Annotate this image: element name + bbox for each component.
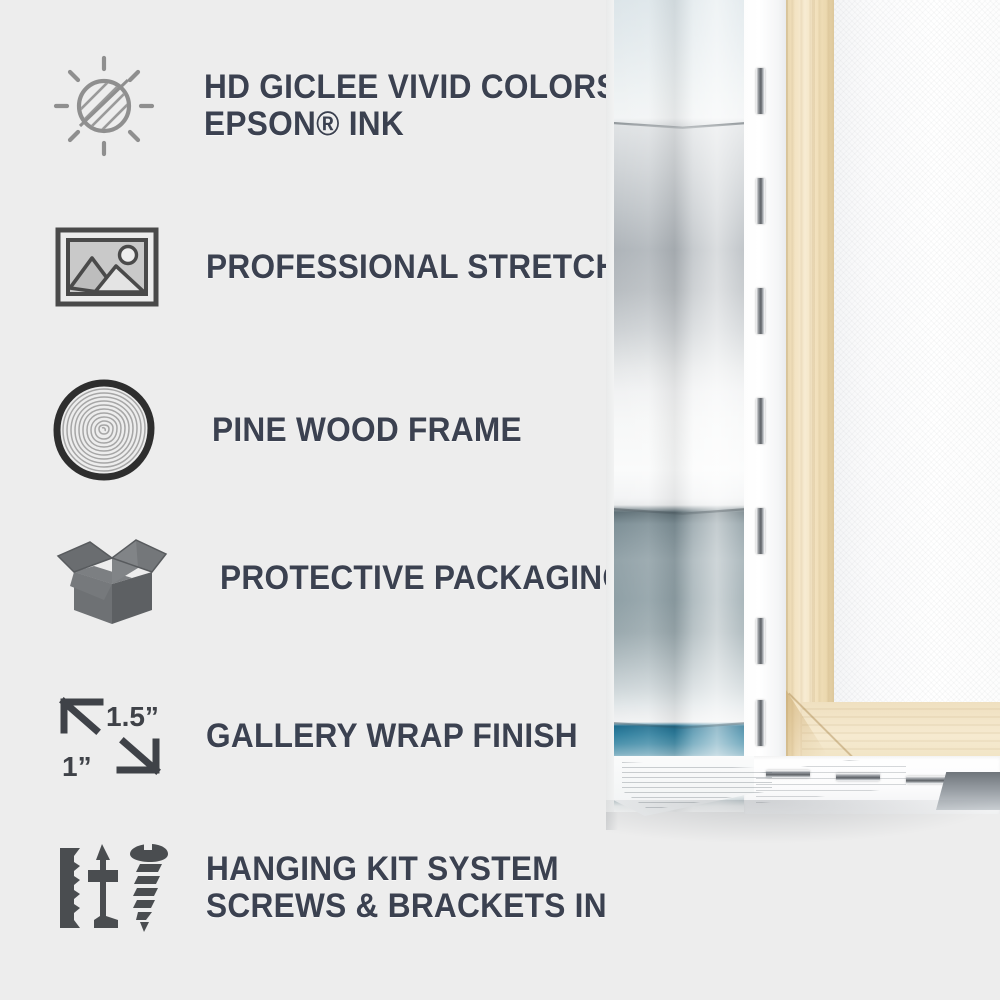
feature-line1: HD GICLEE VIVID COLORS	[204, 68, 618, 106]
feature-line1: PROTECTIVE PACKAGING	[220, 559, 627, 597]
feature-label-pine-frame: PINE WOOD FRAME	[212, 412, 522, 449]
staple	[756, 700, 765, 746]
staple	[756, 288, 765, 334]
open-box-icon	[48, 528, 176, 628]
product-photo	[606, 0, 1000, 1000]
feature-line1: PINE WOOD FRAME	[212, 411, 522, 449]
staple	[756, 68, 765, 114]
feature-row-gallery-wrap: 1.5” 1” GALLERY WRAP FINISH	[56, 690, 606, 782]
feature-list: HD GICLEE VIVID COLORS EPSON® INK PROFES…	[0, 0, 620, 1000]
feature-line2: EPSON® INK	[204, 106, 618, 143]
wrap-measure-label: 1”	[62, 751, 92, 782]
feature-label-gallery-wrap: GALLERY WRAP FINISH	[206, 718, 578, 755]
framed-picture-icon	[52, 222, 162, 312]
feature-row-giclee: HD GICLEE VIVID COLORS EPSON® INK	[50, 52, 649, 160]
feature-label-packaging: PROTECTIVE PACKAGING	[220, 560, 627, 597]
printed-canvas-edge	[614, 0, 746, 812]
edge-sheen	[614, 0, 746, 812]
feature-line1: GALLERY WRAP FINISH	[206, 717, 578, 755]
staple	[756, 398, 765, 444]
staple	[756, 618, 765, 664]
hanging-hardware-icon	[44, 840, 170, 936]
feature-label-giclee: HD GICLEE VIVID COLORS EPSON® INK	[204, 69, 618, 142]
feature-line1: HANGING KIT SYSTEM	[206, 850, 559, 888]
sun-hatched-icon	[50, 52, 158, 160]
feature-row-pine-frame: PINE WOOD FRAME	[52, 378, 545, 482]
staple	[756, 508, 765, 554]
feature-row-packaging: PROTECTIVE PACKAGING	[48, 528, 658, 628]
canvas-fold-strip	[744, 0, 788, 812]
diagonal-measure-arrows-icon: 1.5” 1”	[56, 690, 168, 782]
infographic-canvas: HD GICLEE VIVID COLORS EPSON® INK PROFES…	[0, 0, 1000, 1000]
staple	[756, 178, 765, 224]
photo-drop-shadow	[606, 800, 1000, 844]
depth-measure-label: 1.5”	[106, 701, 159, 732]
tree-rings-icon	[52, 378, 156, 482]
